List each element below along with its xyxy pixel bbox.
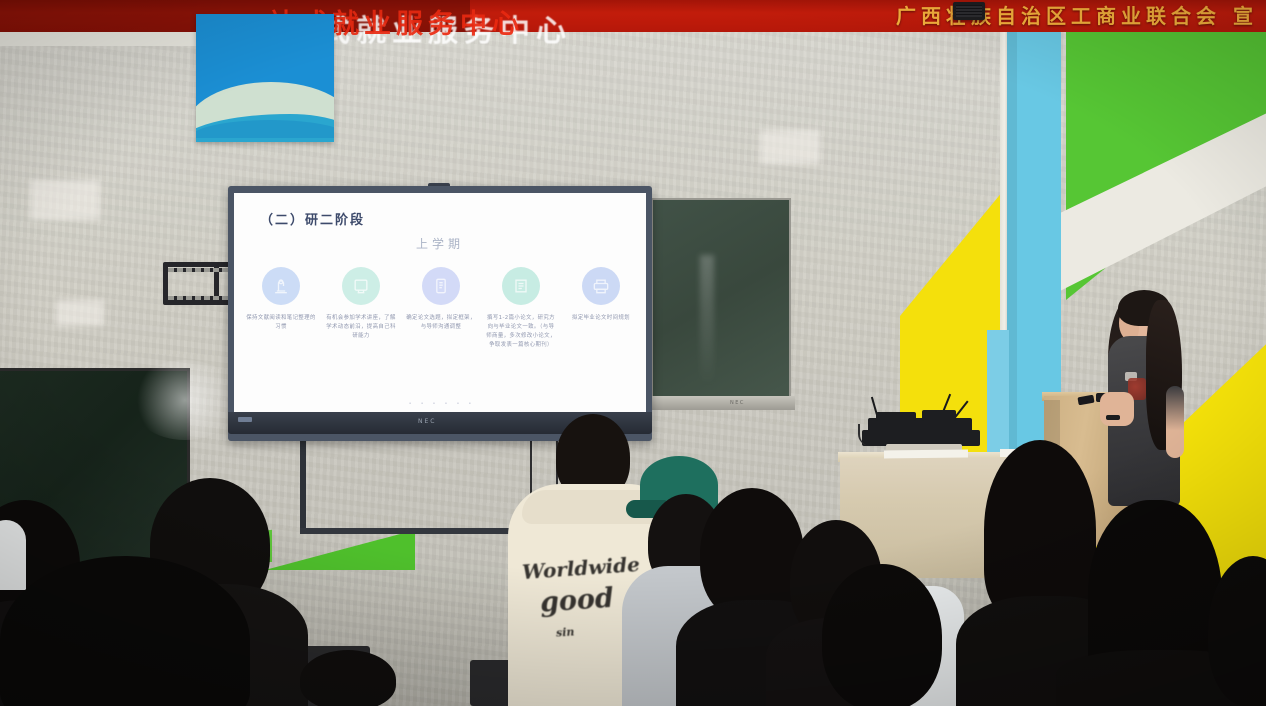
slide-column-text: 拟定毕业论文时间规划 [572,314,630,323]
pager-dot[interactable]: • [409,401,412,407]
slide-column: 有机会参加学术讲座，了解学术动态前沿，提高自己科研能力 [326,267,396,350]
presenter-arm [1166,386,1184,458]
presenter-hands [1100,392,1134,426]
banner-org-text: 广西壮族自治区工商业联合会 宣 [896,0,1258,30]
smartboard-brand: NEC [418,418,436,425]
slide-column-text: 确定论文选题，拟定框架，与导师沟通调整 [406,314,476,332]
blackboard-glare [130,360,240,440]
pager-dot[interactable]: • [421,401,424,407]
mount-rail [168,296,236,300]
hoodie-text-line3: sin [556,625,575,639]
slide-column: 拟定毕业论文时间规划 [566,267,636,350]
audience-head [300,650,396,706]
red-banner: 广西壮族自治区工商业联合会 宣 [0,0,1266,32]
microscope-icon [262,267,300,305]
receiver-module [922,410,956,421]
paper-sheet [884,450,968,459]
slide-title: （二）研二阶段 [260,209,365,228]
wall-patch [56,300,104,326]
wall-patch [30,180,100,220]
slide-column: 确定论文选题，拟定框架，与导师沟通调整 [406,267,476,350]
lecture-hall-scene: 广西壮族自治区工商业联合会 宣 一站式就业服务中心 一站式就业服务中心 NEC … [0,0,1266,706]
smartboard-sensor [238,417,252,422]
printer-icon [582,267,620,305]
audience-shirt [0,520,26,590]
slide-column-text: 撰写1-2篇小论文，研究方向与毕业论文一致。（与导师商量，多次修改小论文，争取发… [486,314,556,350]
wall-patch [760,130,820,164]
blackboard-brand: NEC [730,400,745,406]
speaker-mesh [956,5,982,17]
blackboard-glare [700,255,714,385]
right-blackboard [651,198,791,398]
audience-head [822,564,942,706]
document-icon [422,267,460,305]
audience-head [984,440,1096,620]
pager-dot[interactable]: • [456,401,459,407]
slide-pager[interactable]: • • • • • • [234,401,646,407]
hoodie-text-line2: good [539,582,615,618]
receiver-module [876,412,916,421]
slide-column: 保持文献阅读和笔记整理的习惯 [246,267,316,350]
pager-dot[interactable]: • [433,401,436,407]
slide-column-text: 有机会参加学术讲座，了解学术动态前沿，提高自己科研能力 [326,314,396,341]
slide-subtitle: 上学期 [234,235,646,252]
blue-poster [196,14,334,142]
smartboard-display[interactable]: （二）研二阶段 上学期 保持文献阅读和笔记整理的习惯 [228,186,652,441]
wristwatch-icon [1106,415,1120,420]
pager-dot[interactable]: • [468,401,471,407]
slide-canvas: （二）研二阶段 上学期 保持文献阅读和笔记整理的习惯 [234,193,646,415]
mount-rail [168,268,236,272]
notes-icon [502,267,540,305]
presentation-slide: （二）研二阶段 上学期 保持文献阅读和笔记整理的习惯 [234,193,646,415]
pager-dot[interactable]: • [445,401,448,407]
slide-icon-row: 保持文献阅读和笔记整理的习惯 有机会参加学术讲座，了解学术动态前沿，提高自己科研… [246,267,636,350]
slide-column: 撰写1-2篇小论文，研究方向与毕业论文一致。（与导师商量，多次修改小论文，争取发… [486,267,556,350]
monitor-chip-icon [342,267,380,305]
blackboard-tray [649,396,795,410]
slide-column-text: 保持文献阅读和笔记整理的习惯 [246,314,316,332]
board-stand-leg [300,434,306,534]
